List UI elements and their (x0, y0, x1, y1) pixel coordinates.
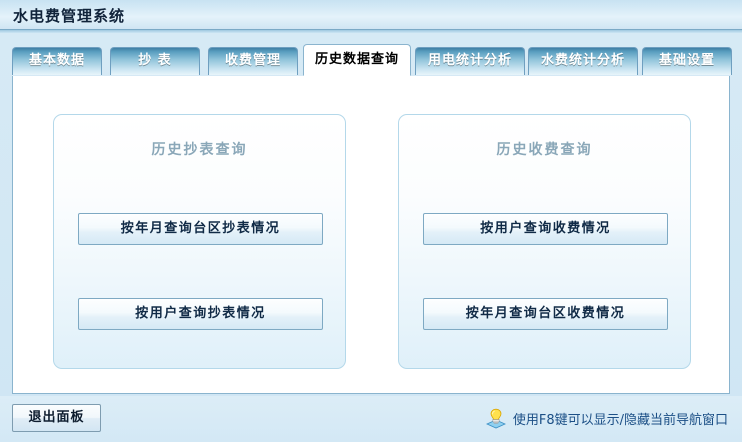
tab-content-panel: 历史抄表查询 按年月查询台区抄表情况 按用户查询抄表情况 历史收费查询 按用户查… (12, 76, 730, 394)
app-title: 水电费管理系统 (13, 5, 125, 26)
group-title: 历史抄表查询 (54, 139, 345, 159)
footer-bar: 退出面板 使用F8键可以显示/隐藏当前导航窗口 (0, 396, 742, 442)
footer-hint: 使用F8键可以显示/隐藏当前导航窗口 (485, 406, 728, 430)
tab-0[interactable]: 基本数据 (12, 47, 102, 75)
footer-hint-text: 使用F8键可以显示/隐藏当前导航窗口 (513, 409, 728, 428)
title-bar-underline (0, 30, 742, 33)
tab-2[interactable]: 收费管理 (208, 47, 298, 75)
tab-3[interactable]: 历史数据查询 (303, 44, 411, 76)
group-historical-charge-query: 历史收费查询 按用户查询收费情况 按年月查询台区收费情况 (398, 114, 691, 369)
tab-bar: 基本数据抄 表收费管理历史数据查询用电统计分析水费统计分析基础设置 (0, 44, 742, 77)
exit-panel-button[interactable]: 退出面板 (12, 404, 101, 432)
query-charges-by-user-button[interactable]: 按用户查询收费情况 (423, 213, 668, 245)
query-meter-reading-by-user-button[interactable]: 按用户查询抄表情况 (78, 298, 323, 330)
group-historical-meter-reading: 历史抄表查询 按年月查询台区抄表情况 按用户查询抄表情况 (53, 114, 346, 369)
query-charges-by-month-button[interactable]: 按年月查询台区收费情况 (423, 298, 668, 330)
lightbulb-icon (485, 407, 507, 429)
title-bar: 水电费管理系统 (0, 0, 742, 30)
query-meter-reading-by-month-button[interactable]: 按年月查询台区抄表情况 (78, 213, 323, 245)
tab-5[interactable]: 水费统计分析 (528, 47, 638, 75)
application-window: 水电费管理系统 历史抄表查询 按年月查询台区抄表情况 按用户查询抄表情况 历史收… (0, 0, 742, 442)
tab-4[interactable]: 用电统计分析 (415, 47, 525, 75)
tab-6[interactable]: 基础设置 (642, 47, 732, 75)
tab-1[interactable]: 抄 表 (110, 47, 200, 75)
group-title: 历史收费查询 (399, 139, 690, 159)
